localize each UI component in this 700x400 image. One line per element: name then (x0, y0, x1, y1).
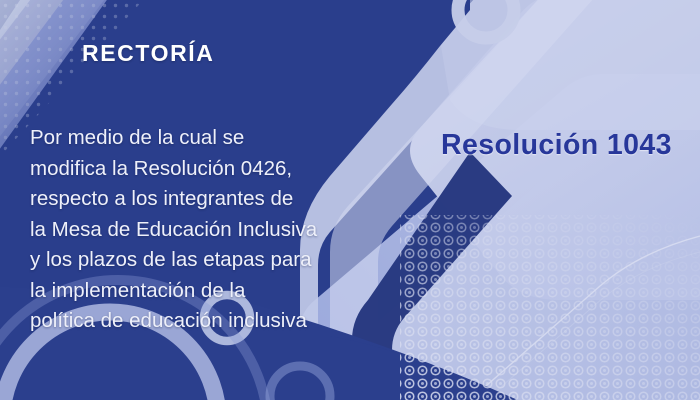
body-copy: Por medio de la cual se modifica la Reso… (30, 123, 380, 337)
kicker-label: RECTORÍA (82, 42, 215, 65)
body-line: Por medio de la cual se (30, 123, 380, 154)
body-line: modifica la Resolución 0426, (30, 154, 380, 185)
page-title: Resolución 1043 (441, 130, 672, 161)
body-line: la implementación de la (30, 276, 380, 307)
body-line: y los plazos de las etapas para (30, 245, 380, 276)
resolution-banner: RECTORÍA Por medio de la cual se modific… (0, 0, 700, 400)
body-line: respecto a los integrantes de (30, 184, 380, 215)
banner-content: RECTORÍA Por medio de la cual se modific… (0, 0, 700, 400)
body-line: política de educación inclusiva (30, 306, 380, 337)
body-line: la Mesa de Educación Inclusiva (30, 215, 380, 246)
